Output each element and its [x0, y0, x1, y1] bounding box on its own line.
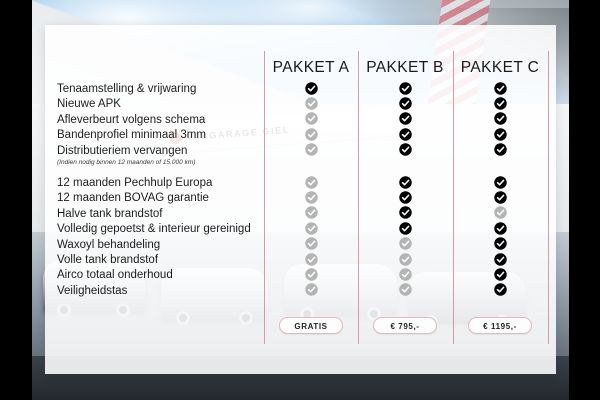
- pricing-card: PAKKET APAKKET BPAKKET CTenaamstelling &…: [45, 25, 556, 374]
- check-icon-included: [494, 97, 507, 110]
- feature-label: Tenaamstelling & vrijwaring: [57, 82, 196, 96]
- check-icon-included: [494, 222, 507, 235]
- check-icon-excluded: [305, 253, 318, 266]
- check-icon-excluded: [305, 222, 318, 235]
- check-icon-excluded: [305, 128, 318, 141]
- feature-label: Distributieriem vervangen: [57, 144, 187, 158]
- feature-label: Nieuwe APK: [57, 97, 121, 111]
- price-button-a[interactable]: GRATIS: [279, 317, 343, 334]
- column-divider: [264, 51, 265, 344]
- check-icon-included: [494, 191, 507, 204]
- check-icon-included: [399, 112, 412, 125]
- check-icon-included: [494, 283, 507, 296]
- check-icon-excluded: [305, 191, 318, 204]
- price-button-b[interactable]: € 795,-: [373, 317, 437, 334]
- check-icon-included: [399, 143, 412, 156]
- feature-label: Veiligheidstas: [57, 284, 127, 298]
- feature-label: Bandenprofiel minimaal 3mm: [57, 128, 206, 142]
- check-icon-excluded: [399, 253, 412, 266]
- column-divider: [453, 51, 454, 344]
- price-button-c[interactable]: € 1195,-: [468, 317, 532, 334]
- feature-note: (Indien nodig binnen 12 maanden of 15.00…: [57, 158, 195, 167]
- feature-label: Volledig gepoetst & interieur gereinigd: [57, 222, 251, 236]
- check-icon-excluded: [305, 97, 318, 110]
- feature-label: 12 maanden BOVAG garantie: [57, 191, 209, 205]
- check-icon-excluded: [305, 283, 318, 296]
- check-icon-excluded: [399, 283, 412, 296]
- check-icon-included: [494, 237, 507, 250]
- check-icon-included: [399, 82, 412, 95]
- check-icon-excluded: [399, 268, 412, 281]
- feature-label: Volle tank brandstof: [57, 253, 158, 267]
- check-icon-included: [494, 253, 507, 266]
- check-icon-included: [305, 82, 318, 95]
- check-icon-included: [494, 128, 507, 141]
- column-divider: [358, 51, 359, 344]
- check-icon-excluded: [305, 143, 318, 156]
- pricing-table: PAKKET APAKKET BPAKKET CTenaamstelling &…: [45, 25, 556, 374]
- check-icon-excluded: [399, 237, 412, 250]
- check-icon-excluded: [305, 206, 318, 219]
- check-icon-excluded: [305, 176, 318, 189]
- check-icon-included: [399, 191, 412, 204]
- check-icon-included: [399, 222, 412, 235]
- feature-label: 12 maanden Pechhulp Europa: [57, 176, 212, 190]
- check-icon-included: [399, 176, 412, 189]
- check-icon-included: [494, 112, 507, 125]
- feature-label: Afleverbeurt volgens schema: [57, 113, 205, 127]
- check-icon-included: [494, 143, 507, 156]
- check-icon-included: [494, 268, 507, 281]
- check-icon-included: [494, 82, 507, 95]
- check-icon-excluded: [305, 112, 318, 125]
- feature-label: Waxoyl behandeling: [57, 238, 160, 252]
- column-header-b: PAKKET B: [350, 55, 460, 81]
- check-icon-included: [494, 176, 507, 189]
- check-icon-excluded: [305, 237, 318, 250]
- column-header-c: PAKKET C: [445, 55, 555, 81]
- feature-label: Halve tank brandstof: [57, 207, 162, 221]
- check-icon-included: [399, 97, 412, 110]
- check-icon-included: [399, 206, 412, 219]
- check-icon-excluded: [494, 206, 507, 219]
- check-icon-included: [399, 128, 412, 141]
- check-icon-excluded: [305, 268, 318, 281]
- feature-label: Airco totaal onderhoud: [57, 268, 173, 282]
- column-divider: [548, 51, 549, 344]
